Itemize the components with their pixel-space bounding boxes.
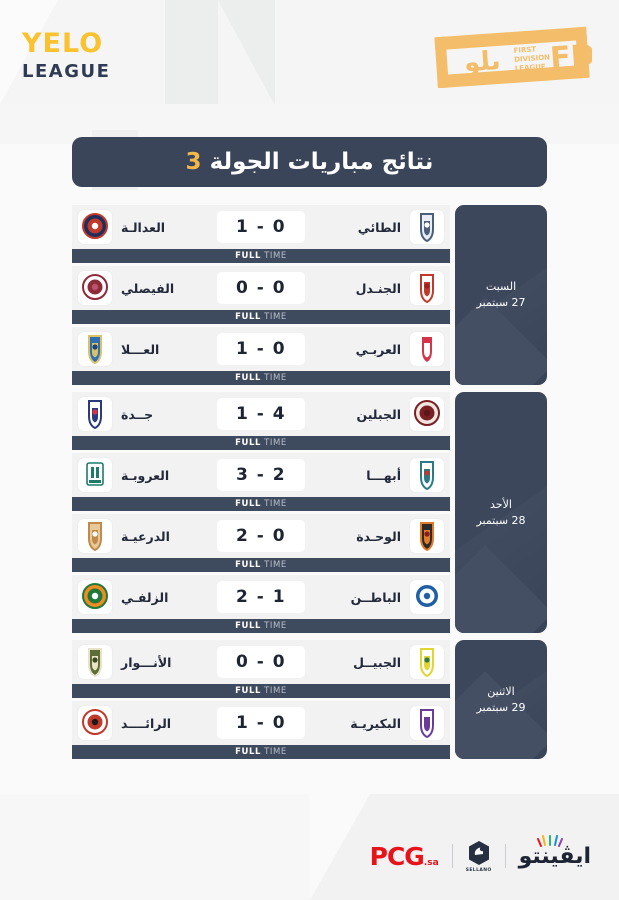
al-ula-crest: [78, 332, 112, 366]
away-side: الرائــــد: [78, 706, 217, 740]
al-wehda-crest: [410, 519, 444, 553]
match-card[interactable]: الجبلين 1 - 4 جــدة FULL TIME: [72, 392, 450, 450]
al-jabalain-crest: [410, 397, 444, 431]
away-side: العـــلا: [78, 332, 217, 366]
away-side: الدرعيـة: [78, 519, 217, 553]
home-side: الجبلين: [305, 397, 444, 431]
pcg-logo: PCG.sa: [370, 842, 439, 871]
evento-logo: ايڤينتو: [519, 844, 591, 869]
day-panel: الاثنين 29 سبتمبر: [455, 640, 547, 759]
status-full: FULL: [235, 373, 261, 383]
match-score: 1 - 0: [217, 211, 305, 243]
match-status-bar: FULL TIME: [72, 684, 450, 698]
day-panel-sheen: [455, 545, 547, 633]
al-raed-crest: [78, 706, 112, 740]
match-row[interactable]: الجبلين 1 - 4 جــدة: [72, 392, 450, 436]
sellano-wordmark: SELLANO: [466, 868, 492, 873]
league-wordmark: LEAGUE: [22, 63, 110, 81]
al-zulfi-crest: [78, 580, 112, 614]
yelo-wordmark: YELO: [22, 30, 110, 57]
day-name: الأحد: [476, 497, 525, 513]
home-team-name: الوحـدة: [347, 529, 410, 544]
status-time: TIME: [264, 560, 287, 570]
away-team-name: العروبـة: [112, 468, 178, 483]
status-full: FULL: [235, 686, 261, 696]
svg-text:FDL: FDL: [549, 37, 592, 76]
away-team-name: الدرعيـة: [112, 529, 179, 544]
results-board: السبت 27 سبتمبر الطائي 1 - 0 العدالـة: [72, 205, 547, 766]
match-score: 1 - 0: [217, 333, 305, 365]
match-card[interactable]: الجبيــل 0 - 0 الأنـــوار FULL TIME: [72, 640, 450, 698]
match-card[interactable]: الوحـدة 2 - 0 الدرعيـة FULL TIME: [72, 514, 450, 572]
status-full: FULL: [235, 499, 261, 509]
match-card[interactable]: الجنـدل 0 - 0 الفيصلي FULL TIME: [72, 266, 450, 324]
match-row[interactable]: الجبيــل 0 - 0 الأنـــوار: [72, 640, 450, 684]
sellano-hexagon-icon: [467, 840, 491, 866]
page-title-text: نتائج مباريات الجولة: [210, 149, 434, 175]
page-title-bar: نتائج مباريات الجولة 3: [72, 137, 547, 187]
match-status-bar: FULL TIME: [72, 619, 450, 633]
status-time: TIME: [264, 438, 287, 448]
day-date: 28 سبتمبر: [476, 513, 525, 529]
page-footer: ايڤينتو SELLANO PCG.sa: [0, 826, 619, 886]
al-jandal-crest: [410, 271, 444, 305]
match-score: 1 - 0: [217, 707, 305, 739]
day-group: الأحد 28 سبتمبر الجبلين 1 - 4 جــدة: [72, 392, 547, 633]
match-status-bar: FULL TIME: [72, 745, 450, 759]
away-side: جــدة: [78, 397, 217, 431]
status-full: FULL: [235, 747, 261, 757]
page-title: نتائج مباريات الجولة 3: [186, 149, 434, 175]
away-team-name: الأنـــوار: [112, 655, 180, 670]
home-side: الوحـدة: [305, 519, 444, 553]
status-time: TIME: [264, 251, 287, 261]
day-label: السبت 27 سبتمبر: [476, 279, 525, 311]
day-group: السبت 27 سبتمبر الطائي 1 - 0 العدالـة: [72, 205, 547, 385]
match-row[interactable]: الباطــن 2 - 1 الزلفـي: [72, 575, 450, 619]
match-status-bar: FULL TIME: [72, 310, 450, 324]
fdl-logo: يلو FIRST DIVISION LEAGUE FDL: [432, 26, 592, 88]
home-side: البكيريـة: [305, 706, 444, 740]
footer-divider-2: [452, 844, 453, 868]
match-card[interactable]: أبهـــا 3 - 2 العروبـة FULL TIME: [72, 453, 450, 511]
page-header: YELO LEAGUE يلو FIRST DIVISION LEAGUE FD…: [0, 0, 619, 104]
home-side: الطائي: [305, 210, 444, 244]
match-status-bar: FULL TIME: [72, 558, 450, 572]
match-score: 1 - 4: [217, 398, 305, 430]
match-row[interactable]: البكيريـة 1 - 0 الرائــــد: [72, 701, 450, 745]
al-orobah-crest: [78, 458, 112, 492]
away-side: العروبـة: [78, 458, 217, 492]
away-side: العدالـة: [78, 210, 217, 244]
match-card[interactable]: العربـي 1 - 0 العـــلا FULL TIME: [72, 327, 450, 385]
status-full: FULL: [235, 312, 261, 322]
al-diriyah-crest: [78, 519, 112, 553]
match-row[interactable]: الجنـدل 0 - 0 الفيصلي: [72, 266, 450, 310]
home-team-name: البكيريـة: [341, 716, 410, 731]
match-row[interactable]: العربـي 1 - 0 العـــلا: [72, 327, 450, 371]
day-label: الأحد 28 سبتمبر: [476, 497, 525, 529]
match-card[interactable]: الباطــن 2 - 1 الزلفـي FULL TIME: [72, 575, 450, 633]
day-name: الاثنين: [476, 684, 525, 700]
home-team-name: الجبيــل: [344, 655, 410, 670]
day-date: 27 سبتمبر: [476, 295, 525, 311]
match-score: 0 - 0: [217, 646, 305, 678]
home-side: الباطــن: [305, 580, 444, 614]
match-row[interactable]: أبهـــا 3 - 2 العروبـة: [72, 453, 450, 497]
yelo-league-logo: YELO LEAGUE: [22, 30, 110, 81]
away-side: الزلفـي: [78, 580, 217, 614]
home-team-name: الباطــن: [342, 590, 410, 605]
al-arabi-crest: [410, 332, 444, 366]
status-time: TIME: [264, 747, 287, 757]
home-side: العربـي: [305, 332, 444, 366]
sellano-logo: SELLANO: [466, 840, 492, 873]
al-jubail-crest: [410, 645, 444, 679]
home-team-name: العربـي: [347, 342, 410, 357]
match-status-bar: FULL TIME: [72, 371, 450, 385]
al-faisaly-crest: [78, 271, 112, 305]
status-full: FULL: [235, 438, 261, 448]
match-card[interactable]: البكيريـة 1 - 0 الرائــــد FULL TIME: [72, 701, 450, 759]
match-list: الجبيــل 0 - 0 الأنـــوار FULL TIME: [72, 640, 450, 759]
status-time: TIME: [264, 312, 287, 322]
away-team-name: العـــلا: [112, 342, 168, 357]
pcg-wordmark: PCG: [370, 842, 424, 871]
match-status-bar: FULL TIME: [72, 249, 450, 263]
abha-crest: [410, 458, 444, 492]
home-team-name: الجبلين: [347, 407, 410, 422]
at-taee-crest: [410, 210, 444, 244]
round-number: 3: [186, 149, 202, 175]
away-team-name: العدالـة: [112, 220, 174, 235]
match-row[interactable]: الوحـدة 2 - 0 الدرعيـة: [72, 514, 450, 558]
jeddah-crest: [78, 397, 112, 431]
status-time: TIME: [264, 621, 287, 631]
match-row[interactable]: الطائي 1 - 0 العدالـة: [72, 205, 450, 249]
home-side: الجبيــل: [305, 645, 444, 679]
al-anwar-crest: [78, 645, 112, 679]
day-name: السبت: [476, 279, 525, 295]
status-full: FULL: [235, 560, 261, 570]
match-score: 3 - 2: [217, 459, 305, 491]
match-score: 0 - 0: [217, 272, 305, 304]
match-status-bar: FULL TIME: [72, 497, 450, 511]
away-team-name: الرائــــد: [112, 716, 180, 731]
away-side: الفيصلي: [78, 271, 217, 305]
home-team-name: أبهـــا: [357, 468, 410, 483]
home-team-name: الجنـدل: [347, 281, 410, 296]
away-team-name: الزلفـي: [112, 590, 177, 605]
status-full: FULL: [235, 621, 261, 631]
match-score: 2 - 0: [217, 520, 305, 552]
al-adalah-crest: [78, 210, 112, 244]
away-side: الأنـــوار: [78, 645, 217, 679]
status-time: TIME: [264, 686, 287, 696]
home-side: الجنـدل: [305, 271, 444, 305]
match-list: الجبلين 1 - 4 جــدة FULL TIME: [72, 392, 450, 633]
match-list: الطائي 1 - 0 العدالـة FULL TIME: [72, 205, 450, 385]
svg-text:يلو: يلو: [461, 46, 502, 79]
away-team-name: جــدة: [112, 407, 162, 422]
footer-divider-1: [505, 844, 506, 868]
day-group: الاثنين 29 سبتمبر الجبيــل 0 - 0 الأنـــ…: [72, 640, 547, 759]
day-panel: الأحد 28 سبتمبر: [455, 392, 547, 633]
match-score: 2 - 1: [217, 581, 305, 613]
al-bukayriyah-crest: [410, 706, 444, 740]
day-date: 29 سبتمبر: [476, 700, 525, 716]
status-time: TIME: [264, 373, 287, 383]
al-batin-crest: [410, 580, 444, 614]
day-label: الاثنين 29 سبتمبر: [476, 684, 525, 716]
home-team-name: الطائي: [349, 220, 410, 235]
svg-text:FIRST: FIRST: [513, 45, 536, 55]
match-status-bar: FULL TIME: [72, 436, 450, 450]
status-time: TIME: [264, 499, 287, 509]
away-team-name: الفيصلي: [112, 281, 183, 296]
match-card[interactable]: الطائي 1 - 0 العدالـة FULL TIME: [72, 205, 450, 263]
status-full: FULL: [235, 251, 261, 261]
pcg-tld: .sa: [424, 858, 439, 868]
day-panel: السبت 27 سبتمبر: [455, 205, 547, 385]
home-side: أبهـــا: [305, 458, 444, 492]
